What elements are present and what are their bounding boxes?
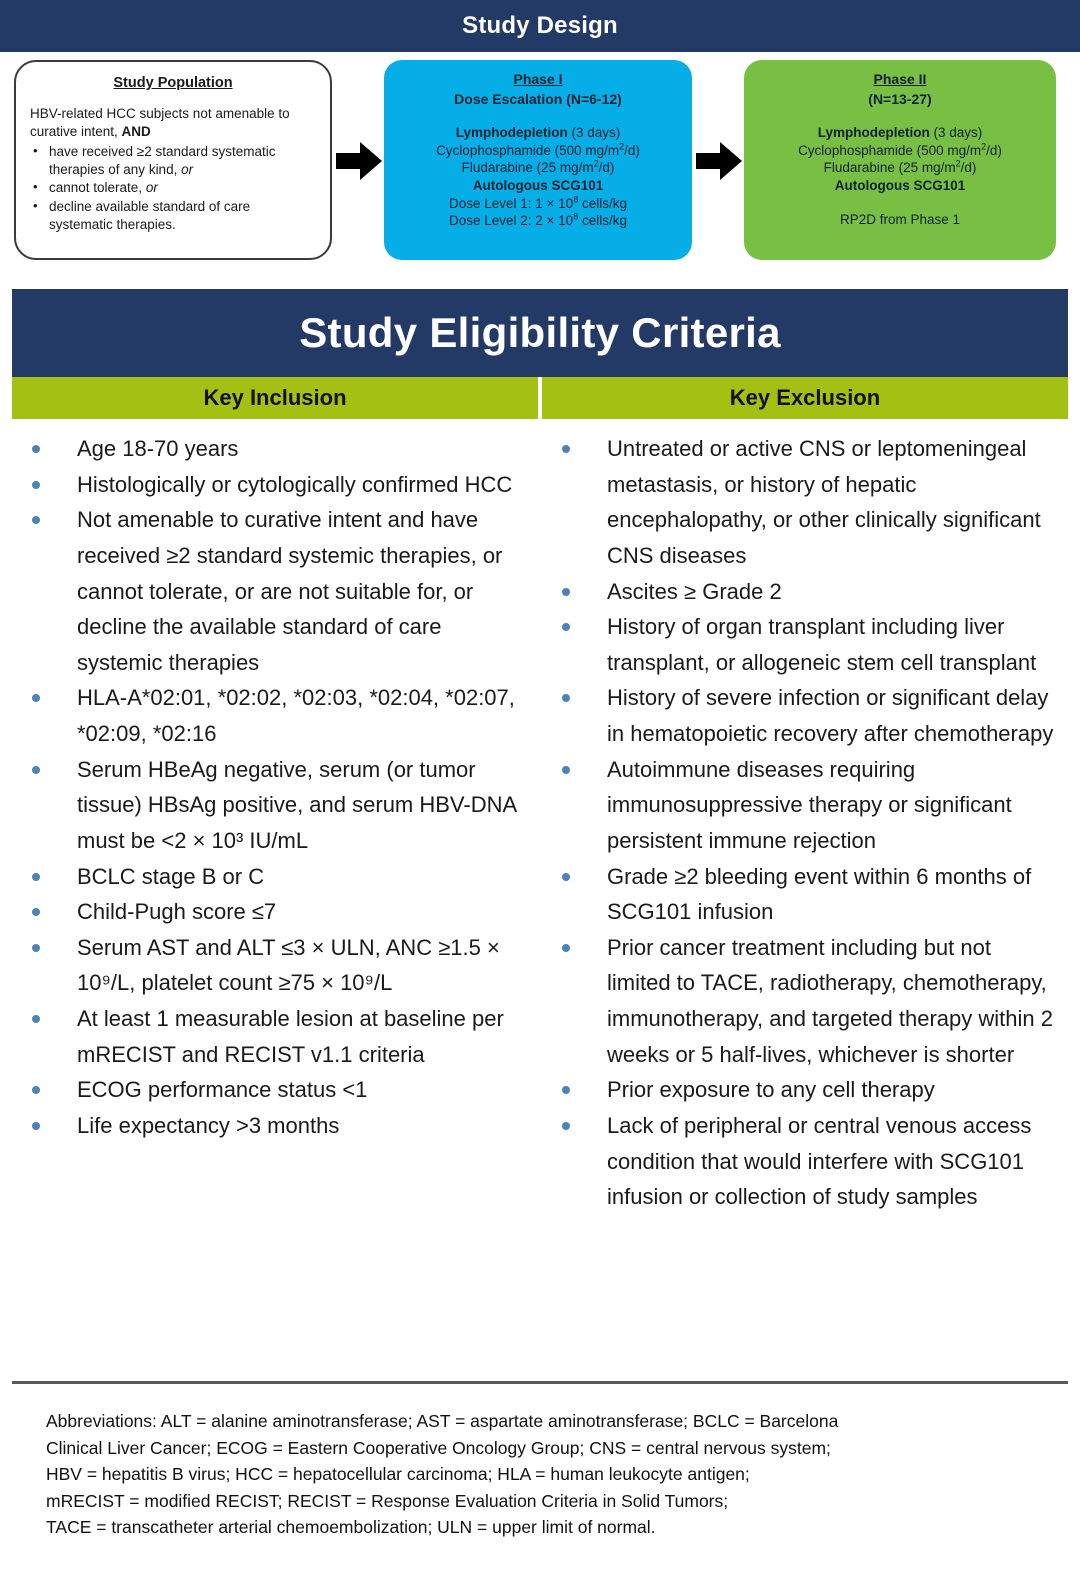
phase-2-lymphodepletion: Lymphodepletion (3 days) bbox=[756, 124, 1044, 142]
key-exclusion-header: Key Exclusion bbox=[542, 377, 1068, 419]
phase-2-cyclophosphamide: Cyclophosphamide (500 mg/m2/d) bbox=[756, 142, 1044, 160]
lymphodepletion-days: (3 days) bbox=[930, 125, 983, 140]
eligibility-title: Study Eligibility Criteria bbox=[12, 289, 1068, 377]
cyclophosphamide-pre: Cyclophosphamide (500 mg/m bbox=[798, 143, 981, 158]
list-item: Autoimmune diseases requiring immunosupp… bbox=[552, 752, 1060, 859]
cyclophosphamide-post: /d) bbox=[986, 143, 1002, 158]
criteria-row: Age 18-70 yearsHistologically or cytolog… bbox=[12, 419, 1068, 1384]
fludarabine-post: /d) bbox=[599, 160, 615, 175]
exclusion-criteria-list: Untreated or active CNS or leptomeningea… bbox=[552, 431, 1060, 1215]
lymphodepletion-label: Lymphodepletion bbox=[818, 125, 930, 140]
list-item: Lack of peripheral or central venous acc… bbox=[552, 1108, 1060, 1215]
cyclophosphamide-pre: Cyclophosphamide (500 mg/m bbox=[436, 143, 619, 158]
study-design-header: Study Design bbox=[0, 0, 1080, 52]
abbreviations-note: Abbreviations: ALT = alanine aminotransf… bbox=[46, 1408, 1056, 1541]
fludarabine-pre: Fludarabine (25 mg/m bbox=[824, 160, 956, 175]
study-population-title: Study Population bbox=[30, 74, 316, 93]
phase-1-cyclophosphamide: Cyclophosphamide (500 mg/m2/d) bbox=[396, 142, 680, 160]
list-item: have received ≥2 standard systematic the… bbox=[47, 143, 316, 179]
phase-1-title: Phase I bbox=[396, 70, 680, 88]
study-population-lead: HBV-related HCC subjects not amenable to… bbox=[30, 105, 316, 141]
phase-2-box: Phase II (N=13-27) Lymphodepletion (3 da… bbox=[744, 60, 1056, 260]
abbreviation-line: TACE = transcatheter arterial chemoembol… bbox=[46, 1514, 1056, 1541]
phase-1-fludarabine: Fludarabine (25 mg/m2/d) bbox=[396, 159, 680, 177]
fludarabine-pre: Fludarabine (25 mg/m bbox=[462, 160, 594, 175]
cyclophosphamide-post: /d) bbox=[624, 143, 640, 158]
phase-1-autologous: Autologous SCG101 bbox=[396, 177, 680, 195]
phase-1-dose-level-1: Dose Level 1: 1 × 108 cells/kg bbox=[396, 195, 680, 213]
list-item: cannot tolerate, or bbox=[47, 179, 316, 197]
study-population-box: Study Population HBV-related HCC subject… bbox=[14, 60, 332, 260]
abbreviation-line: HBV = hepatitis B virus; HCC = hepatocel… bbox=[46, 1461, 1056, 1488]
phase-2-title: Phase II bbox=[756, 70, 1044, 88]
phase-1-subtitle: Dose Escalation (N=6-12) bbox=[396, 90, 680, 108]
dose1-pre: Dose Level 1: 1 × 10 bbox=[449, 196, 573, 211]
abbreviation-line: mRECIST = modified RECIST; RECIST = Resp… bbox=[46, 1488, 1056, 1515]
lymphodepletion-days: (3 days) bbox=[568, 125, 621, 140]
phase-2-autologous: Autologous SCG101 bbox=[756, 177, 1044, 195]
abbreviation-line: Clinical Liver Cancer; ECOG = Eastern Co… bbox=[46, 1435, 1056, 1462]
study-design-flow: Study Population HBV-related HCC subject… bbox=[0, 52, 1080, 280]
key-inclusion-header: Key Inclusion bbox=[12, 377, 538, 419]
list-item: Ascites ≥ Grade 2 bbox=[552, 574, 1060, 610]
study-eligibility-panel: Study Eligibility Criteria Key Inclusion… bbox=[12, 289, 1068, 1559]
right-arrow-icon bbox=[696, 140, 742, 182]
list-item: ECOG performance status <1 bbox=[22, 1072, 530, 1108]
phase-1-box: Phase I Dose Escalation (N=6-12) Lymphod… bbox=[384, 60, 692, 260]
phase-1-dose-level-2: Dose Level 2: 2 × 108 cells/kg bbox=[396, 212, 680, 230]
inclusion-column: Age 18-70 yearsHistologically or cytolog… bbox=[12, 419, 538, 1384]
dose1-post: cells/kg bbox=[578, 196, 627, 211]
phase-2-subtitle: (N=13-27) bbox=[756, 90, 1044, 108]
exclusion-column: Untreated or active CNS or leptomeningea… bbox=[538, 419, 1068, 1384]
list-item: Untreated or active CNS or leptomeningea… bbox=[552, 431, 1060, 574]
fludarabine-post: /d) bbox=[961, 160, 977, 175]
list-item: Serum AST and ALT ≤3 × ULN, ANC ≥1.5 × 1… bbox=[22, 930, 530, 1001]
list-item: BCLC stage B or C bbox=[22, 859, 530, 895]
phase-2-fludarabine: Fludarabine (25 mg/m2/d) bbox=[756, 159, 1044, 177]
abbreviation-line: Abbreviations: ALT = alanine aminotransf… bbox=[46, 1408, 1056, 1435]
list-item: HLA-A*02:01, *02:02, *02:03, *02:04, *02… bbox=[22, 680, 530, 751]
list-item: Prior cancer treatment including but not… bbox=[552, 930, 1060, 1073]
study-population-bullets: have received ≥2 standard systematic the… bbox=[30, 143, 316, 234]
list-item: At least 1 measurable lesion at baseline… bbox=[22, 1001, 530, 1072]
list-item: Child-Pugh score ≤7 bbox=[22, 894, 530, 930]
list-item: Not amenable to curative intent and have… bbox=[22, 502, 530, 680]
list-item: Prior exposure to any cell therapy bbox=[552, 1072, 1060, 1108]
footer-rule bbox=[12, 1381, 1068, 1384]
list-item: Age 18-70 years bbox=[22, 431, 530, 467]
list-item: Histologically or cytologically confirme… bbox=[22, 467, 530, 503]
list-item: Life expectancy >3 months bbox=[22, 1108, 530, 1144]
eligibility-column-headers: Key Inclusion Key Exclusion bbox=[12, 377, 1068, 419]
phase-2-rp2d: RP2D from Phase 1 bbox=[756, 211, 1044, 229]
right-arrow-icon bbox=[336, 140, 382, 182]
list-item: History of organ transplant including li… bbox=[552, 609, 1060, 680]
inclusion-criteria-list: Age 18-70 yearsHistologically or cytolog… bbox=[22, 431, 530, 1144]
list-item: Serum HBeAg negative, serum (or tumor ti… bbox=[22, 752, 530, 859]
list-item: Grade ≥2 bleeding event within 6 months … bbox=[552, 859, 1060, 930]
dose2-pre: Dose Level 2: 2 × 10 bbox=[449, 213, 573, 228]
lymphodepletion-label: Lymphodepletion bbox=[456, 125, 568, 140]
list-item: decline available standard of care syste… bbox=[47, 198, 316, 234]
phase-1-lymphodepletion: Lymphodepletion (3 days) bbox=[396, 124, 680, 142]
dose2-post: cells/kg bbox=[578, 213, 627, 228]
study-design-title: Study Design bbox=[462, 12, 618, 40]
list-item: History of severe infection or significa… bbox=[552, 680, 1060, 751]
